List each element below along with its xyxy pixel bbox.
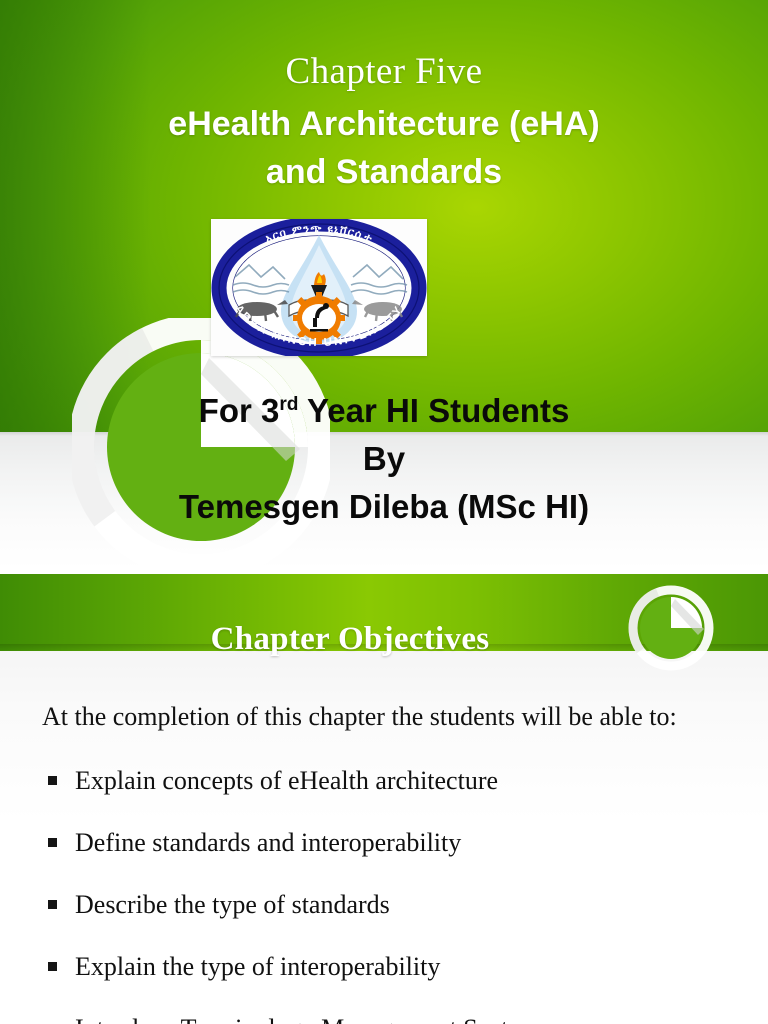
title-subtitle-block: For 3rd Year HI Students By Temesgen Dil… (0, 387, 768, 531)
list-item-label: Define standards and interoperability (75, 828, 461, 857)
objectives-list: Explain concepts of eHealth architecture… (42, 766, 742, 1024)
list-item-label: Describe the type of standards (75, 890, 390, 919)
list-item-label: Explain the type of interoperability (75, 952, 440, 981)
objectives-intro: At the completion of this chapter the st… (42, 696, 726, 737)
presenter-name: Temesgen Dileba (MSc HI) (0, 483, 768, 531)
university-logo: አርባ ምንጭ ዩኒቨርሲቲ ARBA MINCH UNIVERSITY (211, 219, 427, 356)
slide-title: Chapter Five eHealth Architecture (eHA) … (0, 0, 768, 569)
list-item: Describe the type of standards (42, 890, 742, 920)
audience-ordinal: rd (279, 394, 298, 415)
list-item: Explain the type of interoperability (42, 952, 742, 982)
audience-prefix: For 3 (199, 392, 280, 429)
list-item-label: Explain concepts of eHealth architecture (75, 766, 498, 795)
slide-chapter-objectives: Chapter Objectives At the completion of … (0, 574, 768, 1024)
title-heading: eHealth Architecture (eHA) and Standards (0, 100, 768, 196)
objectives-title: Chapter Objectives (0, 621, 700, 658)
audience-suffix: Year HI Students (298, 392, 569, 429)
square-bullet-icon (48, 962, 57, 971)
title-heading-line2: and Standards (0, 148, 768, 196)
list-item-label: Introduce Terminology Management System (75, 1014, 540, 1024)
by-label: By (0, 435, 768, 483)
square-bullet-icon (48, 838, 57, 847)
list-item: Introduce Terminology Management System (42, 1014, 742, 1024)
list-item: Define standards and interoperability (42, 828, 742, 858)
square-bullet-icon (48, 900, 57, 909)
chapter-label: Chapter Five (0, 50, 768, 93)
list-item: Explain concepts of eHealth architecture (42, 766, 742, 796)
title-heading-line1: eHealth Architecture (eHA) (0, 100, 768, 148)
square-bullet-icon (48, 776, 57, 785)
slide-deck: Chapter Five eHealth Architecture (eHA) … (0, 0, 768, 1024)
audience-line: For 3rd Year HI Students (0, 387, 768, 435)
